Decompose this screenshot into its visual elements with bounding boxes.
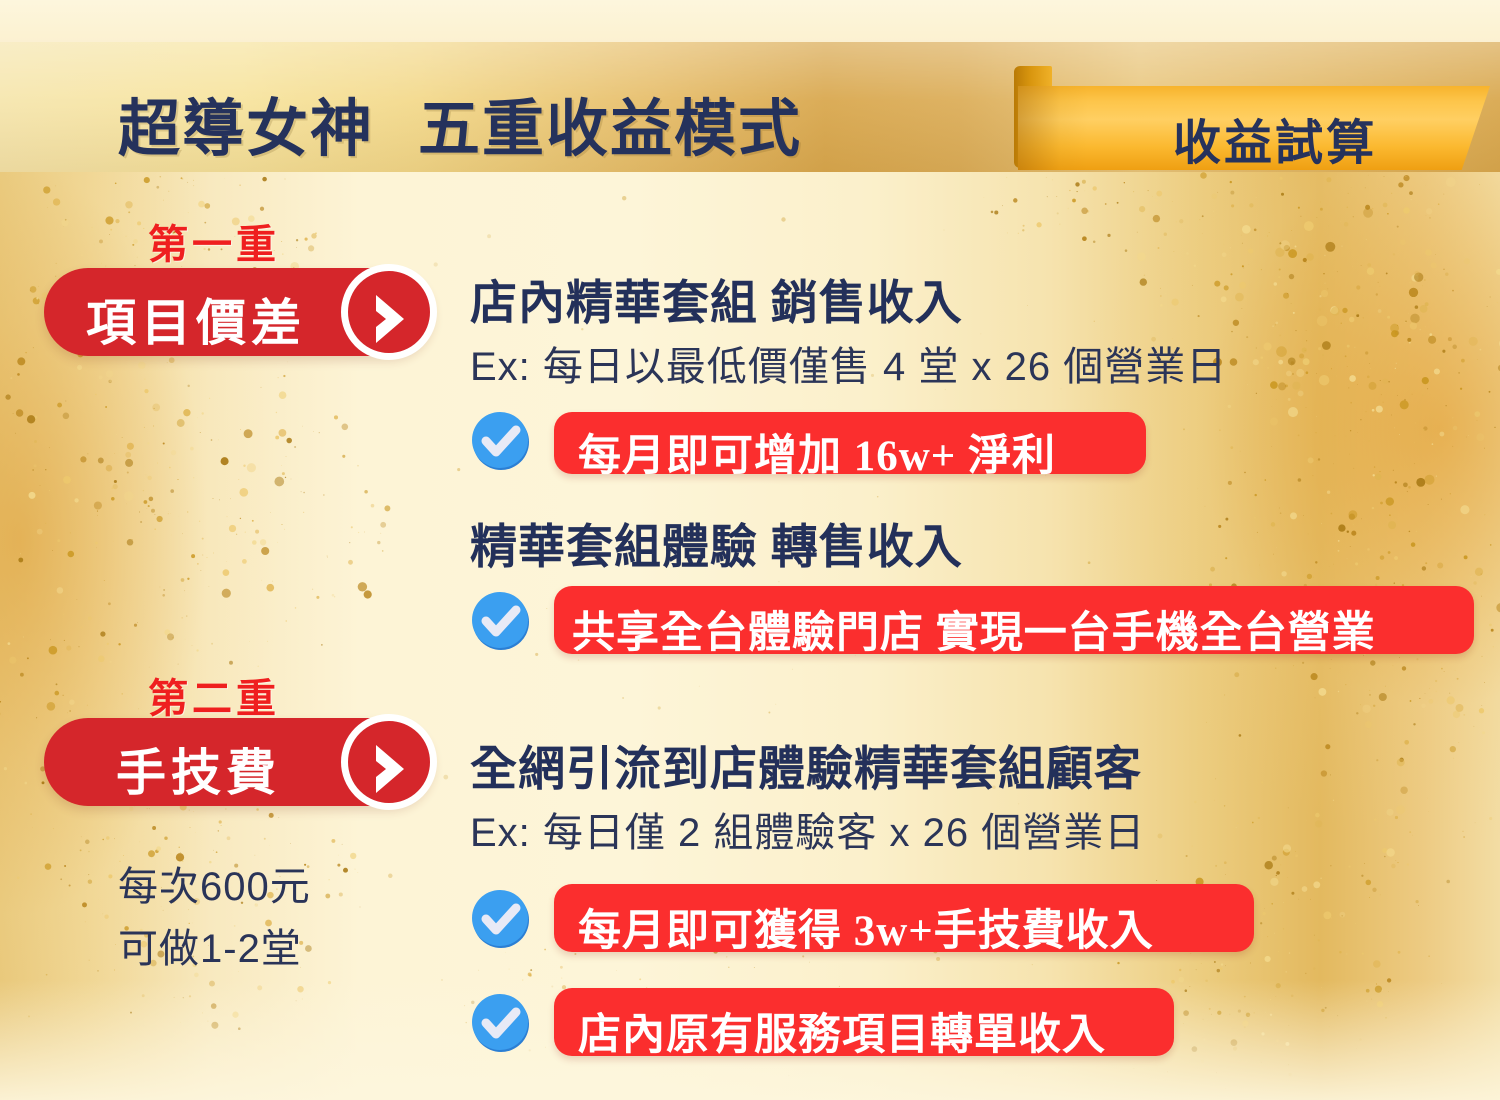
tier-2-section-1-example: Ex: 每日僅 2 組體驗客 x 26 個營業日 (470, 800, 1145, 858)
tier-1-pill-label: 項目價差 (86, 283, 306, 355)
tier-1-section-1-example: Ex: 每日以最低價僅售 4 堂 x 26 個營業日 (470, 334, 1227, 392)
slide-root: 超導女神五重收益模式 收益試算 第一重 項目價差 店內精華套組 銷售收入 Ex:… (0, 0, 1500, 1100)
tier-1-section-1-heading: 店內精華套組 銷售收入 (470, 264, 963, 333)
page-title-main: 超導女神 (118, 96, 374, 164)
chevron-right-icon[interactable] (341, 714, 437, 810)
tier-2-pill-label: 手技費 (116, 733, 281, 805)
check-circle-icon (470, 410, 532, 472)
chevron-right-glyph (368, 739, 424, 799)
tier-1-bullet-1-text: 每月即可增加 16w+ 淨利 (578, 421, 1056, 483)
tier-2-bullet-2-text: 店內原有服務項目轉單收入 (578, 1000, 1106, 1062)
check-circle-icon (470, 992, 532, 1054)
ribbon-banner: 收益試算 (1000, 66, 1500, 176)
tier-1-section-2-heading: 精華套組體驗 轉售收入 (470, 508, 963, 577)
check-circle-icon (470, 888, 532, 950)
page-title: 超導女神五重收益模式 (118, 78, 802, 168)
tier-2-section-1-heading: 全網引流到店體驗精華套組顧客 (470, 730, 1142, 799)
tier-1-kicker: 第一重 (148, 212, 280, 270)
ribbon-label: 收益試算 (1110, 103, 1440, 173)
tier-2-bullet-1-text: 每月即可獲得 3w+手技費收入 (578, 896, 1154, 958)
check-circle-icon (470, 590, 532, 652)
tier-2-note-1: 每次600元 (118, 854, 311, 912)
tier-2-note-2: 可做1-2堂 (118, 916, 302, 974)
chevron-right-glyph (368, 289, 424, 349)
page-title-sub: 五重收益模式 (418, 96, 802, 164)
tier-2-kicker: 第二重 (148, 666, 280, 724)
chevron-right-icon[interactable] (341, 264, 437, 360)
ribbon-shadow (1018, 86, 1088, 170)
tier-1-bullet-2-text: 共享全台體驗門店 實現一台手機全台營業 (572, 598, 1376, 660)
